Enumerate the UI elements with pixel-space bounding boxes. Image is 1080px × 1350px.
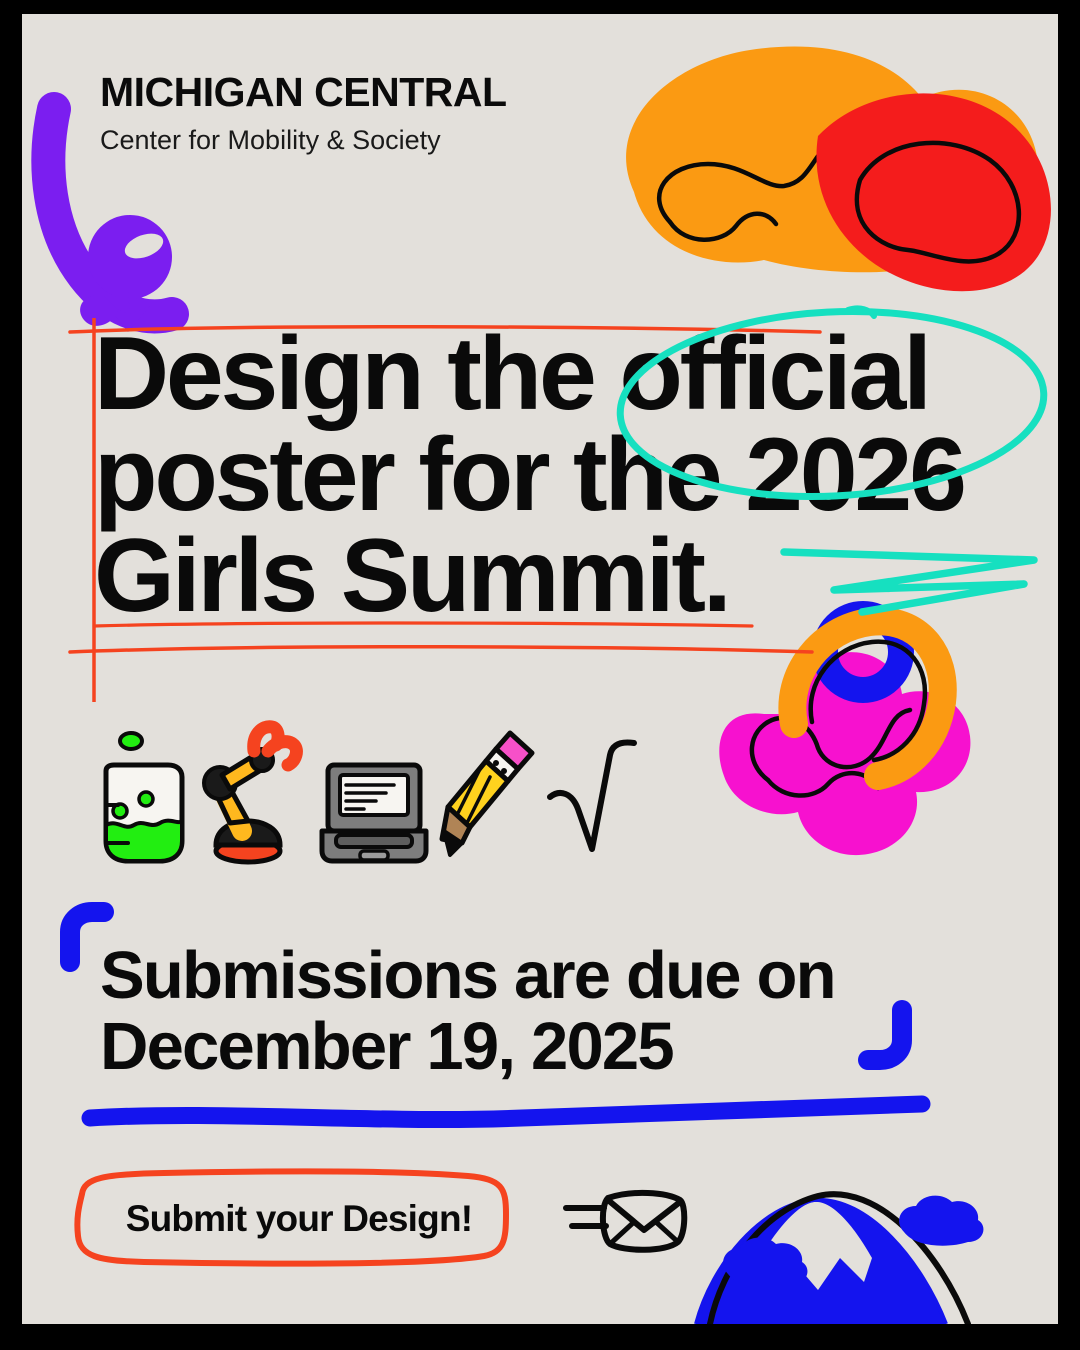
brand-name: MICHIGAN CENTRAL [100,72,507,113]
poster-canvas: MICHIGAN CENTRAL Center for Mobility & S… [22,14,1058,1324]
headline-line-2: poster for the 2026 [94,425,1054,526]
poster-root: MICHIGAN CENTRAL Center for Mobility & S… [0,0,1080,1350]
deadline-text: Submissions are due on December 19, 2025 [100,940,1000,1082]
orange-arc [792,621,942,776]
blue-quote-open [70,912,104,962]
headline-line-3: Girls Summit. [94,526,1054,627]
magenta-clover-blob [719,652,970,855]
envelope-icon [562,1186,692,1258]
laptop-icon [314,719,434,869]
cloud-right [899,1196,983,1246]
blue-underline [90,1104,922,1120]
pencil-icon [438,719,542,869]
deadline-line-2: December 19, 2025 [100,1011,1000,1082]
deadline-line-1: Submissions are due on [100,940,1000,1011]
brand-header: MICHIGAN CENTRAL Center for Mobility & S… [100,72,507,154]
robot-arm-icon [200,719,310,869]
headline-line-1: Design the official [94,324,1054,425]
red-blob [816,93,1050,291]
headline: Design the official poster for the 2026 … [94,324,1054,627]
orange-blob [626,47,1039,273]
brand-tagline: Center for Mobility & Society [100,127,507,154]
cta-label: Submit your Design! [126,1198,473,1240]
envelope-icon-wrapper [562,1186,692,1263]
background-decoration-layer [22,14,1058,1324]
submit-design-button[interactable]: Submit your Design! [64,1164,534,1274]
stem-icon-row [84,714,644,874]
square-root-icon [546,719,642,869]
beaker-icon [84,719,196,869]
annotation-layer [22,14,1058,1324]
mountain-graphic [696,1194,968,1324]
cloud-left [723,1238,807,1288]
